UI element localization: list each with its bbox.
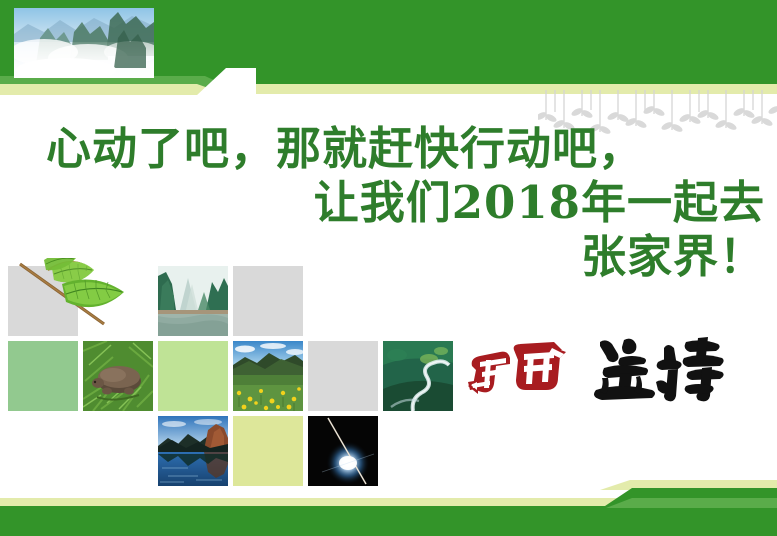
title-line-1: 心动了吧，那就赶快行动吧， bbox=[20, 122, 765, 176]
seal-jianchi bbox=[590, 334, 726, 406]
zhangjiajie-sea-of-clouds-photo bbox=[14, 8, 154, 78]
tile-green-r2c1 bbox=[8, 341, 78, 411]
tile-photo-meadow bbox=[233, 341, 303, 411]
footer-mid-green-stripe bbox=[606, 498, 777, 508]
tile-gray-r2c5 bbox=[308, 341, 378, 411]
seal-group bbox=[466, 334, 726, 410]
tile-photo-karst-peak bbox=[158, 266, 228, 336]
seal-xingdong bbox=[466, 338, 576, 404]
tile-ltgreen-r2c3 bbox=[158, 341, 228, 411]
footer-green-block bbox=[0, 506, 777, 536]
tile-gray-r1c1 bbox=[8, 266, 78, 336]
tile-photo-tortoise bbox=[83, 341, 153, 411]
header-banner bbox=[0, 0, 777, 104]
slide-canvas: 心动了吧，那就赶快行动吧， 让我们2018年一起去 张家界！ bbox=[0, 0, 777, 536]
photo-color-mosaic bbox=[8, 266, 448, 486]
tile-gray-r1c4 bbox=[233, 266, 303, 336]
slide-title: 心动了吧，那就赶快行动吧， 让我们2018年一起去 张家界！ bbox=[20, 122, 765, 284]
green-footer-bar bbox=[0, 476, 777, 536]
title-line-2: 让我们2018年一起去 bbox=[20, 176, 765, 230]
tile-photo-river-bend bbox=[383, 341, 453, 411]
